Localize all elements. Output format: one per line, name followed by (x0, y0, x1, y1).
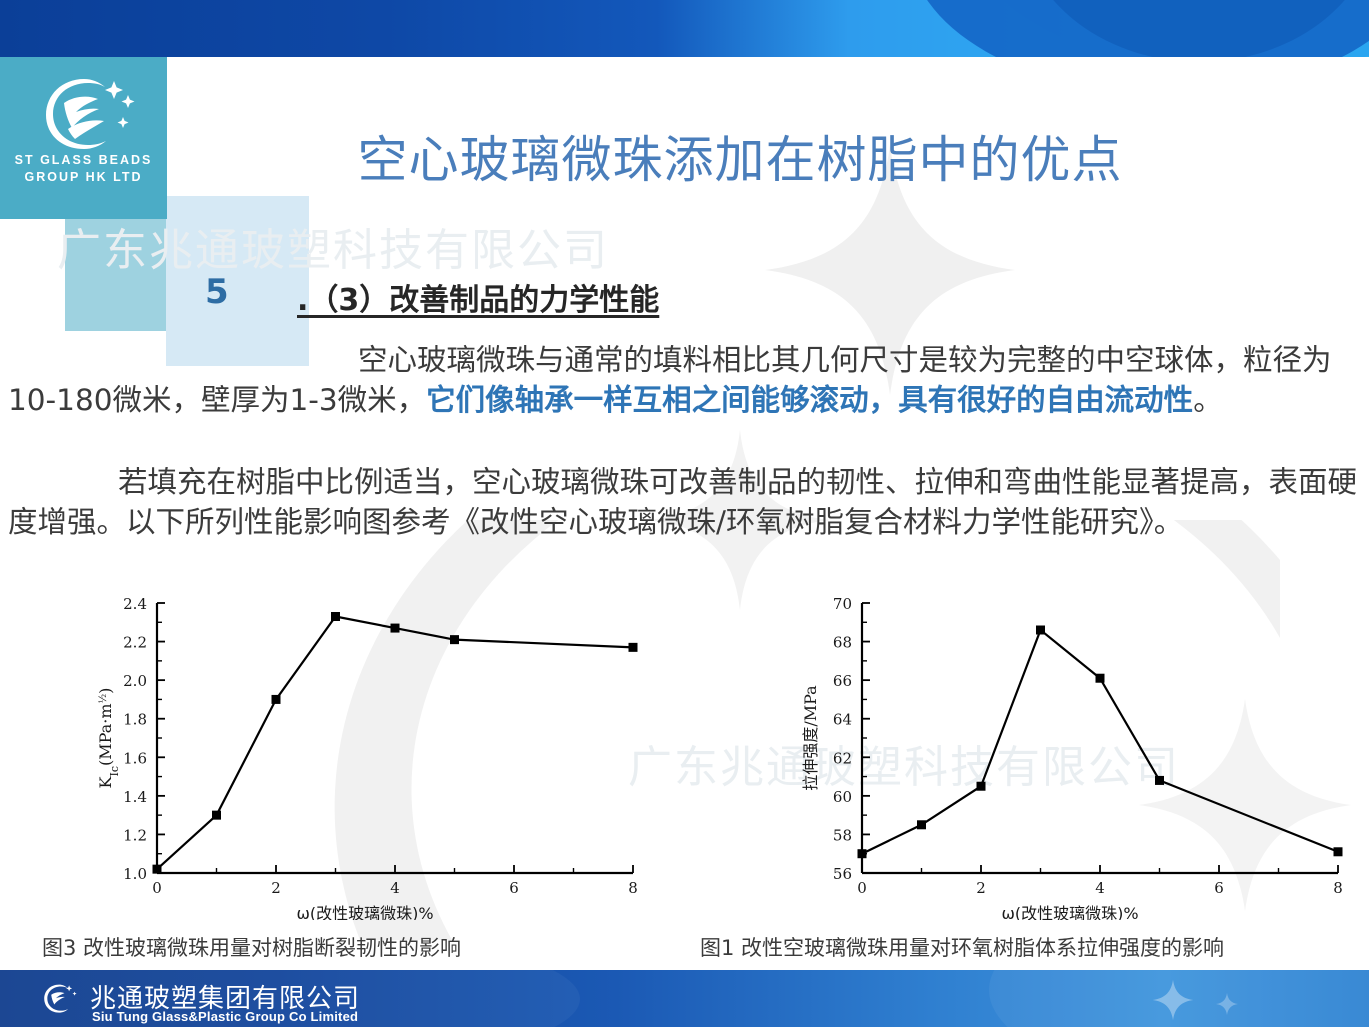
data-point-marker (1036, 626, 1045, 635)
y-tick-label: 70 (833, 595, 852, 613)
x-tick-label: 4 (390, 879, 400, 897)
x-tick-label: 2 (271, 879, 281, 897)
data-point-marker (1334, 847, 1343, 856)
y-tick-label: 56 (833, 865, 852, 883)
x-tick-label: 0 (857, 879, 867, 897)
data-point-marker (450, 635, 459, 644)
y-tick-label: 2.4 (123, 595, 147, 613)
data-point-marker (629, 643, 638, 652)
caption-right: 图1 改性空玻璃微珠用量对环氧树脂体系拉伸强度的影响 (700, 932, 1224, 962)
heading-text: .（3）改善制品的力学性能 (297, 275, 659, 319)
brand-logo-block: ST GLASS BEADS GROUP HK LTD (0, 57, 167, 219)
data-point-marker (1096, 674, 1105, 683)
data-point-marker (977, 782, 986, 791)
x-axis-label: ω(改性玻璃微珠)% (296, 904, 433, 920)
x-tick-label: 6 (509, 879, 519, 897)
slide-canvas: 广东兆通玻塑科技有限公司 广东兆通玻塑科技有限公司 ST GLASS BEADS… (0, 0, 1369, 1027)
y-axis-label: KIc(MPa·m½) (96, 688, 121, 789)
x-tick-label: 4 (1095, 879, 1105, 897)
logo-line-1: ST GLASS BEADS (0, 153, 167, 167)
chart-fracture-toughness: 1.01.21.41.61.82.02.22.402468ω(改性玻璃微珠)%K… (85, 585, 645, 920)
data-point-marker (1155, 776, 1164, 785)
data-point-marker (858, 849, 867, 858)
logo-line-2: GROUP HK LTD (0, 170, 167, 184)
chart-tensile-strength: 565860626466687002468ω(改性玻璃微珠)%拉伸强度/MPa (790, 585, 1350, 920)
y-tick-label: 58 (833, 826, 852, 844)
x-tick-label: 0 (152, 879, 162, 897)
x-tick-label: 8 (1333, 879, 1343, 897)
y-tick-label: 62 (833, 749, 852, 767)
y-tick-label: 1.0 (123, 865, 147, 883)
chart-plot-group: 1.01.21.41.61.82.02.22.402468ω(改性玻璃微珠)%K… (96, 595, 638, 920)
footer-sparkle-icon (1150, 978, 1196, 1022)
footer-sparkle-small-icon (1215, 992, 1239, 1016)
y-tick-label: 60 (833, 788, 852, 806)
data-point-marker (272, 695, 281, 704)
y-tick-label: 1.2 (123, 826, 147, 844)
paragraph-one-segment-3: 。 (1193, 383, 1223, 417)
y-tick-label: 2.2 (123, 634, 147, 652)
chart-right-svg: 565860626466687002468ω(改性玻璃微珠)%拉伸强度/MPa (790, 585, 1350, 920)
y-tick-label: 2.0 (123, 672, 147, 690)
heading-number: 5 (205, 272, 229, 312)
y-tick-label: 66 (833, 672, 852, 690)
chart-plot-group: 565860626466687002468ω(改性玻璃微珠)%拉伸强度/MPa (801, 595, 1343, 920)
paragraph-one-highlight: 它们像轴承一样互相之间能够滚动，具有很好的自由流动性 (426, 383, 1193, 417)
y-tick-label: 68 (833, 634, 852, 652)
x-tick-label: 2 (976, 879, 986, 897)
data-point-marker (153, 865, 162, 874)
page-title: 空心玻璃微珠添加在树脂中的优点 (250, 120, 1230, 192)
paragraph-one: 空心玻璃微珠与通常的填料相比其几何尺寸是较为完整的中空球体，粒径为10-180微… (8, 340, 1363, 420)
footer-crescent-beads-icon (38, 981, 80, 1017)
accent-square-teal (65, 219, 179, 331)
paragraph-two: 若填充在树脂中比例适当，空心玻璃微珠可改善制品的韧性、拉伸和弯曲性能显著提高，表… (8, 462, 1363, 542)
data-point-marker (331, 612, 340, 621)
crescent-beads-icon (30, 73, 138, 153)
data-series-line (157, 617, 633, 870)
data-point-marker (212, 811, 221, 820)
y-tick-label: 1.8 (123, 711, 147, 729)
top-banner (0, 0, 1369, 57)
footer-company-en: Siu Tung Glass&Plastic Group Co Limited (92, 1009, 358, 1024)
x-tick-label: 6 (1214, 879, 1224, 897)
y-axis-label: 拉伸强度/MPa (801, 685, 820, 791)
x-tick-label: 8 (628, 879, 638, 897)
data-point-marker (917, 820, 926, 829)
y-tick-label: 64 (833, 711, 852, 729)
caption-left: 图3 改性玻璃微珠用量对树脂断裂韧性的影响 (42, 932, 461, 962)
footer-bar: 兆通玻塑集团有限公司 Siu Tung Glass&Plastic Group … (0, 970, 1369, 1027)
data-series-line (862, 630, 1338, 854)
data-point-marker (391, 624, 400, 633)
y-tick-label: 1.6 (123, 749, 147, 767)
chart-left-svg: 1.01.21.41.61.82.02.22.402468ω(改性玻璃微珠)%K… (85, 585, 645, 920)
x-axis-label: ω(改性玻璃微珠)% (1001, 904, 1138, 920)
y-tick-label: 1.4 (123, 788, 147, 806)
